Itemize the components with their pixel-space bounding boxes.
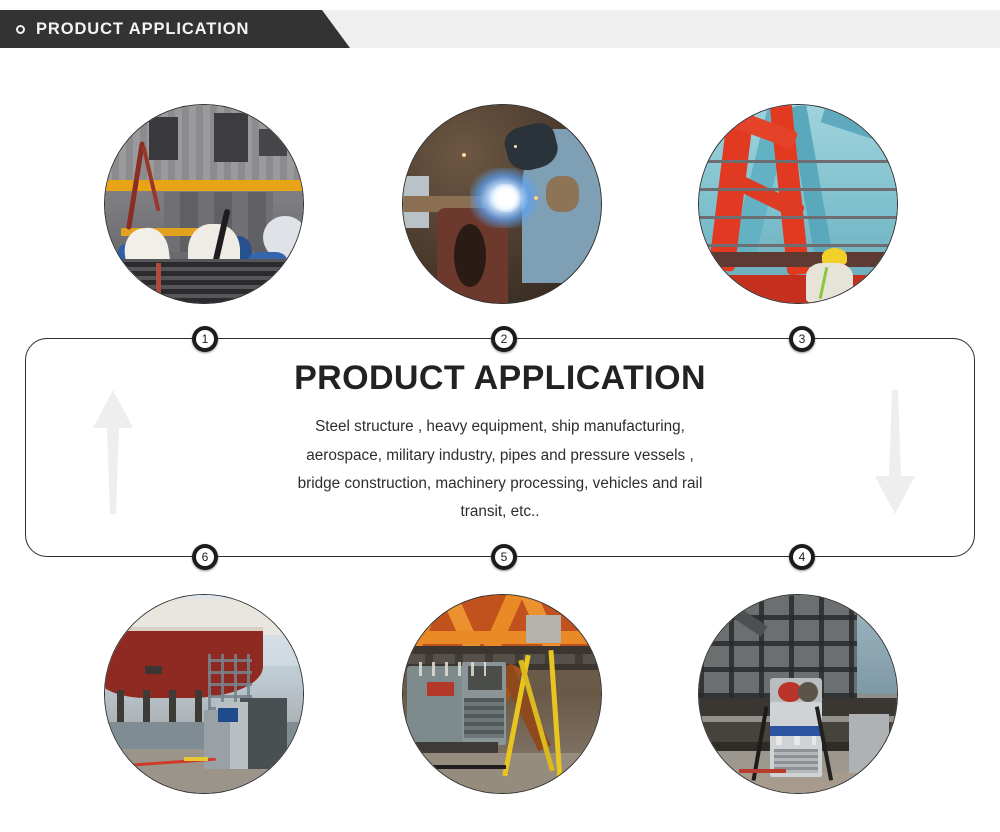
photo-1 — [104, 104, 304, 304]
photo-4-scene — [699, 595, 897, 793]
product-application-page: PRODUCT APPLICATION — [0, 0, 1000, 832]
step-badge-4[interactable]: 4 — [789, 544, 815, 570]
photo-2-scene — [403, 105, 601, 303]
description-line-2: aerospace, military industry, pipes and … — [230, 442, 770, 470]
step-badge-6[interactable]: 6 — [192, 544, 218, 570]
callout-text-group: PRODUCT APPLICATION Steel structure , he… — [230, 360, 770, 527]
step-badge-5[interactable]: 5 — [491, 544, 517, 570]
arrow-up-icon — [90, 388, 136, 516]
photo-5-scene — [403, 595, 601, 793]
step-badge-3-label: 3 — [793, 330, 811, 348]
description-line-1: Steel structure , heavy equipment, ship … — [230, 413, 770, 441]
step-badge-2[interactable]: 2 — [491, 326, 517, 352]
step-badge-6-label: 6 — [196, 548, 214, 566]
step-badge-2-label: 2 — [495, 330, 513, 348]
page-title: PRODUCT APPLICATION — [36, 20, 249, 39]
step-badge-3[interactable]: 3 — [789, 326, 815, 352]
arrow-down-icon — [872, 388, 918, 516]
section-header-banner: PRODUCT APPLICATION — [0, 10, 350, 48]
step-badge-5-label: 5 — [495, 548, 513, 566]
photo-1-scene — [105, 105, 303, 303]
step-badge-4-label: 4 — [793, 548, 811, 566]
callout-title: PRODUCT APPLICATION — [230, 360, 770, 397]
step-badge-1-label: 1 — [196, 330, 214, 348]
photo-2 — [402, 104, 602, 304]
photo-6-scene — [105, 595, 303, 793]
callout-description: Steel structure , heavy equipment, ship … — [230, 413, 770, 526]
description-line-3: bridge construction, machinery processin… — [230, 470, 770, 498]
photo-3 — [698, 104, 898, 304]
circle-bullet-icon — [16, 25, 25, 34]
photo-4 — [698, 594, 898, 794]
photo-5 — [402, 594, 602, 794]
photo-3-scene — [699, 105, 897, 303]
step-badge-1[interactable]: 1 — [192, 326, 218, 352]
description-line-4: transit, etc.. — [230, 498, 770, 526]
photo-6 — [104, 594, 304, 794]
